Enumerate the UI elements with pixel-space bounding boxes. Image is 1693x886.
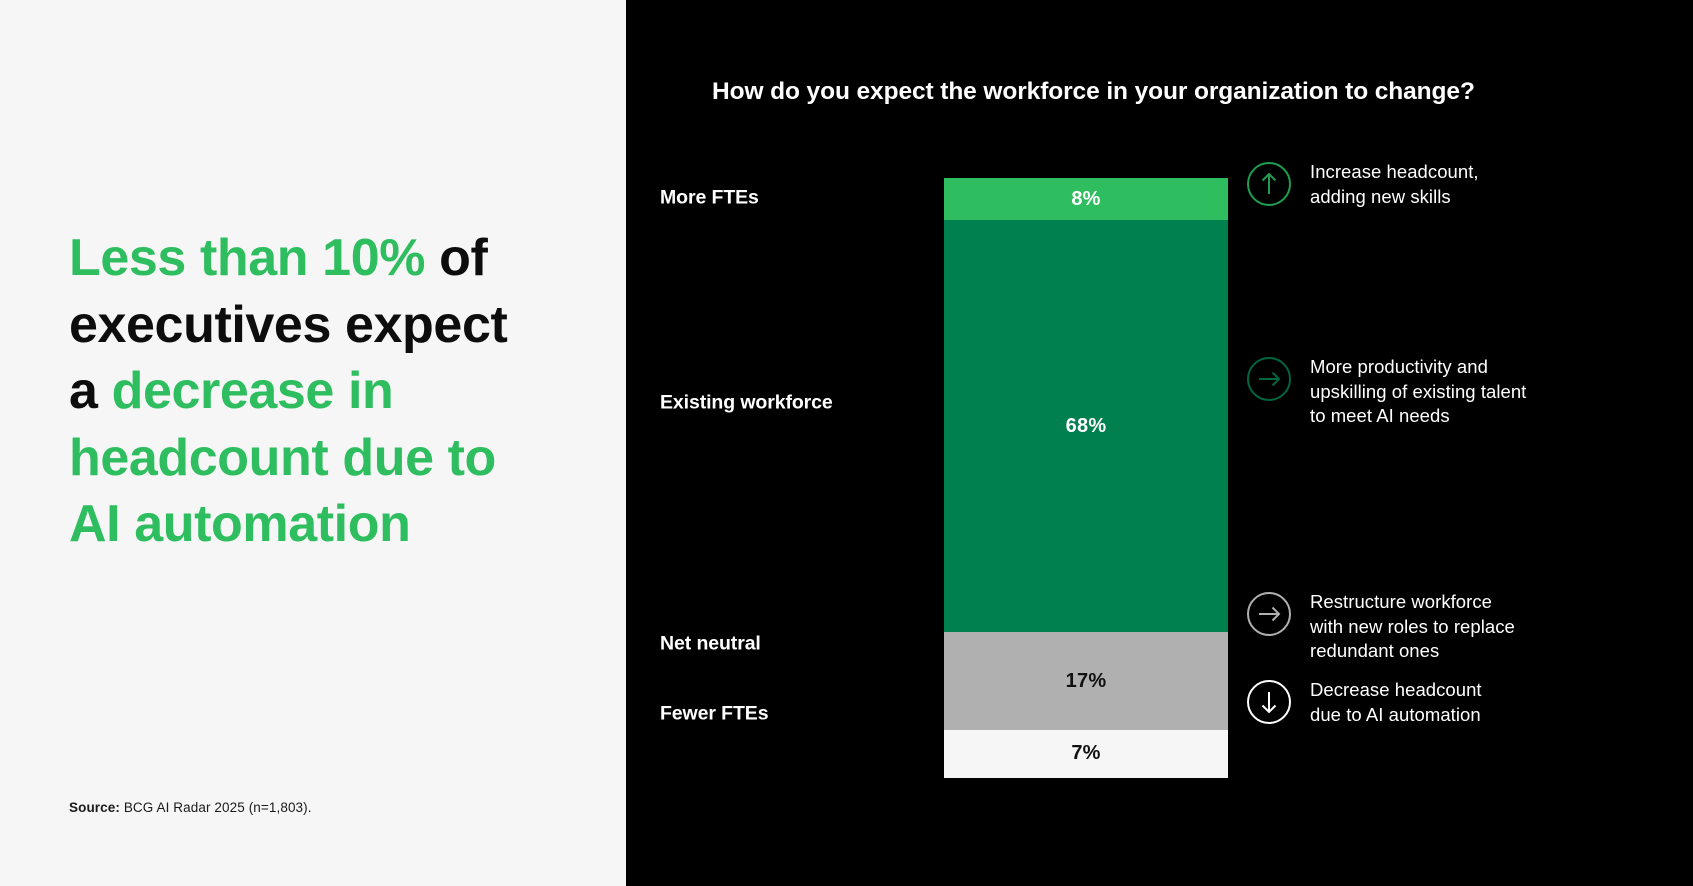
bar-value-fewer-ftes: 7% <box>1071 742 1100 765</box>
arrow-right-circle-icon <box>1246 591 1292 637</box>
category-label-more-ftes: More FTEs <box>660 187 960 210</box>
bar-segment-more-ftes[interactable]: 8% <box>944 178 1228 220</box>
source-text: BCG AI Radar 2025 (n=1,803). <box>120 800 312 815</box>
headline-accent-1: Less than 10% <box>69 229 425 287</box>
annotation-line-1: Decrease headcount <box>1310 679 1482 700</box>
category-labels-column: More FTEs Existing workforce Net neutral… <box>660 178 920 778</box>
annotation-line-1: Increase headcount, <box>1310 161 1479 182</box>
headline: Less than 10% of executives expect a dec… <box>69 225 549 558</box>
bar-segment-fewer-ftes[interactable]: 7% <box>944 730 1228 778</box>
slide-root: Less than 10% of executives expect a dec… <box>0 0 1693 886</box>
stacked-bar: 8% 68% 17% 7% <box>944 178 1228 778</box>
annotation-text-net-neutral: Restructure workforce with new roles to … <box>1310 590 1515 664</box>
source-note: Source: BCG AI Radar 2025 (n=1,803). <box>69 800 312 815</box>
annotation-net-neutral: Restructure workforce with new roles to … <box>1246 590 1676 664</box>
arrow-right-circle-icon <box>1246 356 1292 402</box>
annotation-line-2: with new roles to replace <box>1310 616 1515 637</box>
category-label-fewer-ftes: Fewer FTEs <box>660 703 960 726</box>
chart-area: More FTEs Existing workforce Net neutral… <box>626 0 1693 886</box>
right-panel: How do you expect the workforce in your … <box>626 0 1693 886</box>
category-label-existing-workforce: Existing workforce <box>660 392 960 415</box>
annotation-line-2: due to AI automation <box>1310 704 1481 725</box>
arrow-down-circle-icon <box>1246 679 1292 725</box>
bar-value-existing-workforce: 68% <box>1066 415 1107 438</box>
category-label-net-neutral: Net neutral <box>660 633 960 656</box>
left-panel: Less than 10% of executives expect a dec… <box>0 0 626 886</box>
annotation-line-1: Restructure workforce <box>1310 591 1492 612</box>
source-label: Source: <box>69 800 120 815</box>
annotation-line-2: adding new skills <box>1310 186 1451 207</box>
bar-value-net-neutral: 17% <box>1066 670 1107 693</box>
bar-segment-net-neutral[interactable]: 17% <box>944 632 1228 730</box>
arrow-up-circle-icon <box>1246 161 1292 207</box>
annotation-line-3: redundant ones <box>1310 640 1439 661</box>
annotation-fewer-ftes: Decrease headcount due to AI automation <box>1246 678 1676 727</box>
annotation-more-ftes: Increase headcount, adding new skills <box>1246 160 1676 209</box>
headline-accent-2: decrease in headcount due to AI automati… <box>69 362 496 553</box>
annotation-text-existing-workforce: More productivity and upskilling of exis… <box>1310 355 1526 429</box>
bar-segment-existing-workforce[interactable]: 68% <box>944 220 1228 632</box>
annotations-column: Increase headcount, adding new skills <box>1246 0 1686 886</box>
bar-value-more-ftes: 8% <box>1071 188 1100 211</box>
annotation-line-1: More productivity and <box>1310 356 1488 377</box>
annotation-line-2: upskilling of existing talent <box>1310 381 1526 402</box>
annotation-text-more-ftes: Increase headcount, adding new skills <box>1310 160 1479 209</box>
annotation-line-3: to meet AI needs <box>1310 405 1450 426</box>
annotation-text-fewer-ftes: Decrease headcount due to AI automation <box>1310 678 1482 727</box>
annotation-existing-workforce: More productivity and upskilling of exis… <box>1246 355 1676 429</box>
